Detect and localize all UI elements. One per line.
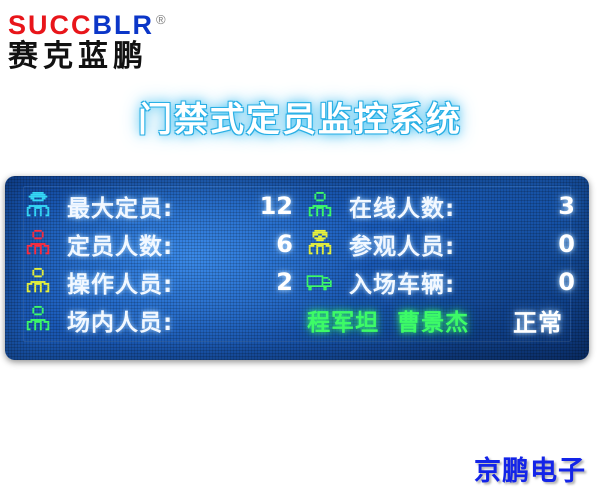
person-icon	[23, 304, 53, 336]
onsite-personnel-names: 程军坦 曹景杰	[231, 303, 513, 337]
value-online-count: 3	[535, 192, 575, 220]
label-online-count: 在线人数:	[349, 189, 535, 223]
value-max-capacity: 12	[253, 192, 293, 220]
logo-text-succ: SUCC	[8, 10, 93, 40]
person-icon	[23, 228, 53, 260]
logo-latin-wordmark: SUCCBLR®	[8, 4, 238, 41]
registered-trademark-icon: ®	[156, 12, 166, 27]
company-logo: SUCCBLR® 赛克蓝鹏	[8, 4, 238, 76]
person-hat-icon	[305, 228, 335, 260]
led-row-online-count: 在线人数: 3	[305, 188, 575, 224]
label-quota-count: 定员人数:	[67, 227, 253, 261]
page-title: 门禁式定员监控系统	[0, 92, 600, 141]
personnel-name: 曹景杰	[397, 303, 469, 337]
truck-icon	[305, 266, 335, 298]
footer-brand: 京鹏电子	[474, 449, 586, 488]
value-vehicles: 0	[535, 268, 575, 296]
person-icon	[23, 266, 53, 298]
label-vehicles: 入场车辆:	[349, 265, 535, 299]
led-row-onsite-personnel: 场内人员: 程军坦 曹景杰 正常	[23, 302, 575, 338]
label-onsite-personnel: 场内人员:	[67, 303, 217, 337]
led-row-quota-count: 定员人数: 6	[23, 226, 305, 262]
led-display-panel: 最大定员: 12 定员人数: 6	[5, 176, 589, 360]
value-quota-count: 6	[253, 230, 293, 258]
person-icon	[305, 190, 335, 222]
status-badge: 正常	[513, 303, 563, 338]
led-row-operators: 操作人员: 2	[23, 264, 305, 300]
logo-chinese-wordmark: 赛克蓝鹏	[8, 39, 238, 75]
led-row-max-capacity: 最大定员: 12	[23, 188, 305, 224]
personnel-name: 程军坦	[307, 303, 379, 337]
label-visitors: 参观人员:	[349, 227, 535, 261]
value-visitors: 0	[535, 230, 575, 258]
person-helmet-icon	[23, 190, 53, 222]
label-max-capacity: 最大定员:	[67, 189, 253, 223]
logo-text-blr: BLR	[93, 10, 155, 40]
label-operators: 操作人员:	[67, 265, 253, 299]
led-row-vehicles: 入场车辆: 0	[305, 264, 575, 300]
value-operators: 2	[253, 268, 293, 296]
led-row-visitors: 参观人员: 0	[305, 226, 575, 262]
